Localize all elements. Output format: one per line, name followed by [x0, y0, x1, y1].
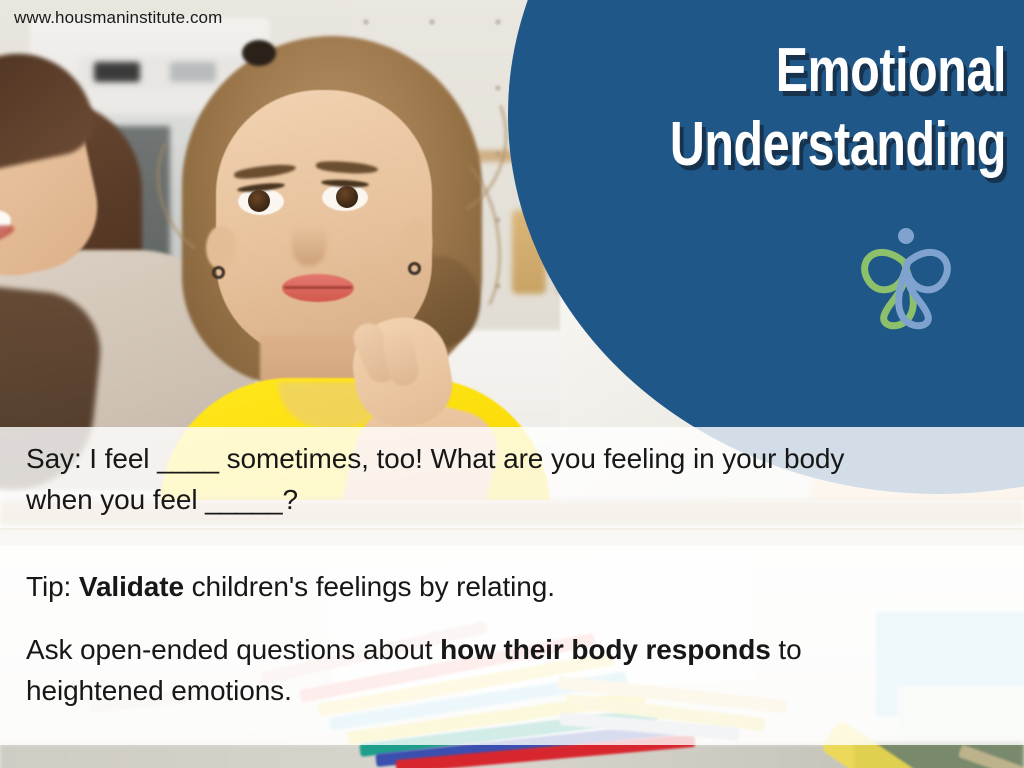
tip-card: www.housmaninstitute.com Emotional Under…: [0, 0, 1024, 768]
tip-prefix: Tip:: [26, 571, 79, 602]
tip-text: Tip: Validate children's feelings by rel…: [26, 566, 926, 607]
tip-suffix: children's feelings by relating.: [184, 571, 555, 602]
ask-text: Ask open-ended questions about how their…: [26, 629, 926, 711]
ask-emphasis: how their body responds: [440, 634, 771, 665]
page-title: Emotional Understanding: [569, 34, 1006, 182]
say-text: Say: I feel ____ sometimes, too! What ar…: [26, 438, 846, 520]
website-url: www.housmaninstitute.com: [14, 8, 222, 28]
tip-emphasis: Validate: [79, 571, 184, 602]
title-line-2: Understanding: [569, 108, 1006, 182]
title-line-1: Emotional: [569, 34, 1006, 108]
ask-prefix: Ask open-ended questions about: [26, 634, 440, 665]
butterfly-logo: [854, 222, 958, 330]
